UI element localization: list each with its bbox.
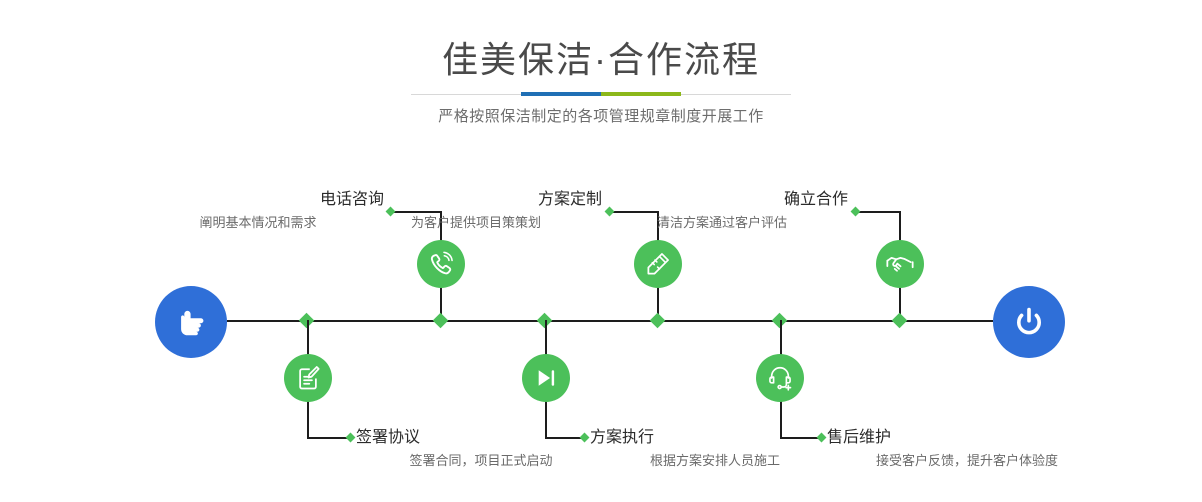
step-label-1: 电话咨询 阐明基本情况和需求 — [132, 190, 384, 232]
sign-document-icon — [294, 364, 322, 392]
step-label-5: 确立合作 清洁方案通过客户评估 — [596, 190, 848, 232]
step-desc-3: 为客户提供项目策策划 — [350, 213, 602, 232]
step-icon-5[interactable] — [876, 240, 924, 288]
step-desc-5: 清洁方案通过客户评估 — [596, 213, 848, 232]
headset-add-icon — [766, 364, 794, 392]
step-desc-2: 签署合同，项目正式启动 — [356, 451, 606, 470]
step-title-6: 售后维护 — [827, 428, 1107, 448]
step-icon-3[interactable] — [634, 240, 682, 288]
label-marker-5 — [851, 207, 861, 217]
step-icon-4[interactable] — [522, 354, 570, 402]
step-label-6: 售后维护 接受客户反馈，提升客户体验度 — [827, 428, 1107, 470]
page-title: 佳美保洁·合作流程 — [0, 38, 1202, 82]
handshake-icon — [885, 249, 915, 279]
timeline-marker-4 — [650, 313, 666, 329]
step-icon-1[interactable] — [417, 240, 465, 288]
step-desc-1: 阐明基本情况和需求 — [132, 213, 384, 232]
flow-start-badge — [155, 286, 227, 358]
title-divider-green-segment — [601, 92, 681, 96]
page-subtitle: 严格按照保洁制定的各项管理规章制度开展工作 — [0, 105, 1202, 129]
label-marker-2 — [346, 433, 356, 443]
flow-end-badge — [993, 286, 1065, 358]
step-label-3: 方案定制 为客户提供项目策策划 — [350, 190, 602, 232]
step-title-5: 确立合作 — [596, 190, 848, 210]
step-icon-2[interactable] — [284, 354, 332, 402]
step-desc-6: 接受客户反馈，提升客户体验度 — [827, 451, 1107, 470]
timeline-spine — [227, 320, 993, 322]
title-divider-blue-segment — [521, 92, 601, 96]
step-title-1: 电话咨询 — [132, 190, 384, 210]
step-label-4: 方案执行 根据方案安排人员施工 — [590, 428, 840, 470]
timeline-marker-6 — [892, 313, 908, 329]
step-desc-4: 根据方案安排人员施工 — [590, 451, 840, 470]
play-end-icon — [533, 365, 559, 391]
power-icon — [1009, 302, 1049, 342]
phone-call-icon — [426, 249, 456, 279]
step-label-2: 签署协议 签署合同，项目正式启动 — [356, 428, 606, 470]
pointing-hand-icon — [171, 302, 211, 342]
connector-horizontal-5 — [857, 211, 901, 213]
process-flow-infographic: 佳美保洁·合作流程 严格按照保洁制定的各项管理规章制度开展工作 — [0, 0, 1202, 502]
step-title-3: 方案定制 — [350, 190, 602, 210]
timeline-marker-2 — [433, 313, 449, 329]
pencil-ruler-icon — [644, 250, 672, 278]
step-icon-6[interactable] — [756, 354, 804, 402]
